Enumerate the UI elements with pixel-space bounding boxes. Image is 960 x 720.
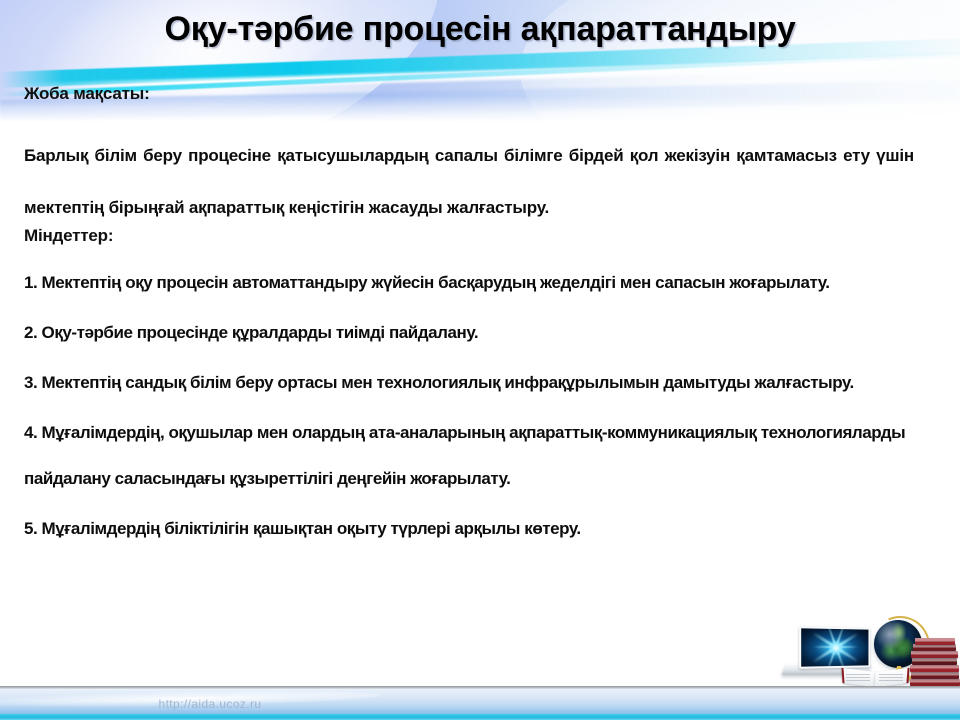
tasks-label: Міндеттер: <box>24 226 113 246</box>
goal-paragraph: Барлық білім беру процесіне қатысушылард… <box>24 130 914 234</box>
book-stack-icon <box>910 638 960 686</box>
list-item: 2. Оқу-тәрбие процесінде құралдарды тиім… <box>24 310 924 356</box>
list-item: 4. Мұғалімдердің, оқушылар мен олардың а… <box>24 410 924 502</box>
tasks-list: 1. Мектептің оқу процесін автоматтандыру… <box>24 260 924 556</box>
list-item: 1. Мектептің оқу процесін автоматтандыру… <box>24 260 924 306</box>
laptop-screen-glow <box>801 628 868 666</box>
open-book-text-lines <box>879 674 903 682</box>
list-item: 5. Мұғалімдердің біліктілігін қашықтан о… <box>24 506 924 552</box>
presentation-slide: Оқу-тәрбие процесін ақпараттандыру Жоба … <box>0 0 960 720</box>
goal-label: Жоба мақсаты: <box>24 84 150 104</box>
watermark-url: http://aida.ucoz.ru <box>0 697 420 711</box>
page-title: Оқу-тәрбие процесін ақпараттандыру <box>0 10 960 49</box>
starburst-core-icon <box>828 639 844 655</box>
list-item: 3. Мектептің сандық білім беру ортасы ме… <box>24 360 924 406</box>
footer-accent-line <box>0 714 960 720</box>
open-book-text-lines <box>846 674 870 682</box>
slide-body: Барлық білім беру процесіне қатысушылард… <box>0 122 960 687</box>
education-illustration <box>782 612 960 690</box>
laptop-screen-icon <box>799 626 870 669</box>
